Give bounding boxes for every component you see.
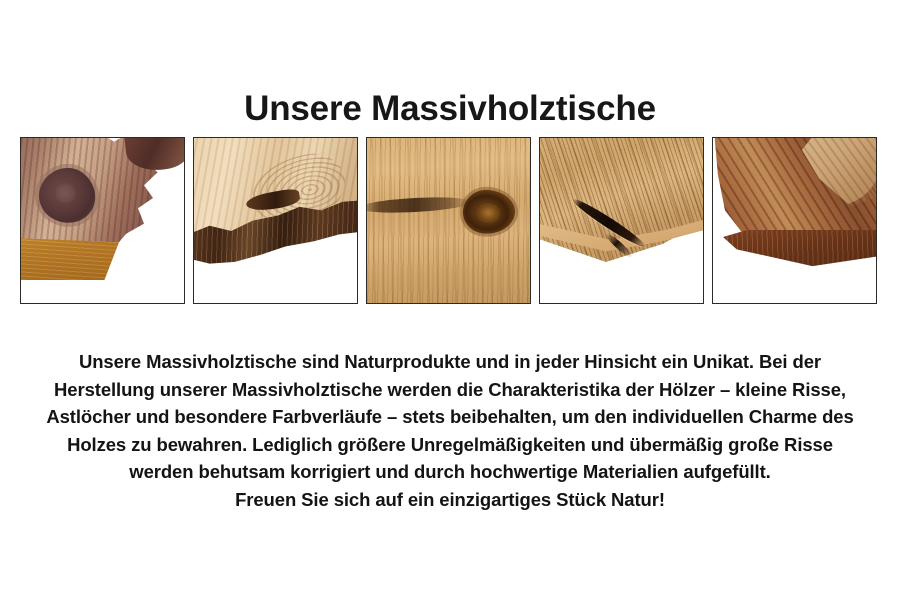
body-line: Herstellung unserer Massivholztische wer… — [20, 376, 880, 404]
body-line: Holzes zu bewahren. Lediglich größere Un… — [20, 431, 880, 459]
body-line: Astlöcher und besondere Farbverläufe – s… — [20, 403, 880, 431]
wood-detail-image-4 — [540, 138, 703, 303]
body-line: Freuen Sie sich auf ein einzigartiges St… — [20, 486, 880, 514]
product-info-page: Unsere Massivholztische — [0, 0, 900, 600]
gallery-photo-2[interactable] — [193, 137, 358, 304]
gallery-photo-1[interactable] — [20, 137, 185, 304]
body-copy: Unsere Massivholztische sind Naturproduk… — [20, 348, 880, 513]
body-line: werden behutsam korrigiert und durch hoc… — [20, 458, 880, 486]
gallery — [20, 137, 880, 304]
wood-detail-image-2 — [194, 138, 357, 303]
wood-edge-bevel — [723, 230, 876, 274]
wood-edge-bevel — [21, 238, 119, 280]
gallery-photo-5[interactable] — [712, 137, 877, 304]
page-title: Unsere Massivholztische — [0, 89, 900, 129]
wood-detail-image-5 — [713, 138, 876, 303]
gallery-photo-3[interactable] — [366, 137, 531, 304]
wood-detail-image-3 — [367, 138, 530, 303]
gallery-photo-4[interactable] — [539, 137, 704, 304]
wood-detail-image-1 — [21, 138, 184, 303]
body-line: Unsere Massivholztische sind Naturproduk… — [20, 348, 880, 376]
